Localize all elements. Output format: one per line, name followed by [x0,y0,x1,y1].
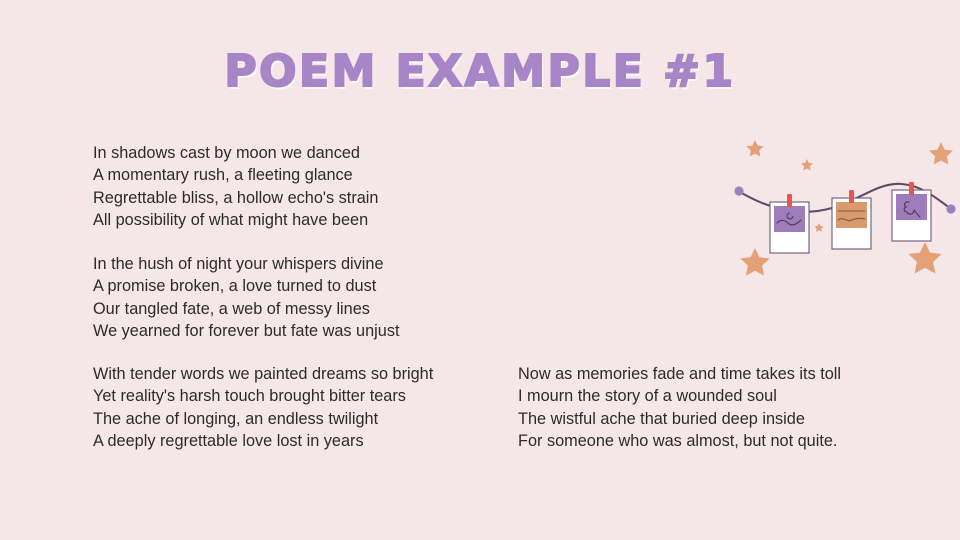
poem-line: In shadows cast by moon we danced [93,142,378,164]
star-lower-right [908,242,941,274]
poem-line: For someone who was almost, but not quit… [518,430,841,452]
star-tiny-center [814,223,823,232]
photo-flower [892,182,931,241]
star-lower-left [740,248,769,276]
poem-line: Now as memories fade and time takes its … [518,363,841,385]
clothespin [909,182,914,195]
poem-line: We yearned for forever but fate was unju… [93,320,400,342]
poem-line: The wistful ache that buried deep inside [518,408,841,430]
poem-stanza-1: In shadows cast by moon we danced A mome… [93,142,378,231]
poem-line: Our tangled fate, a web of messy lines [93,298,400,320]
poem-line: With tender words we painted dreams so b… [93,363,433,385]
star-upper-right [929,142,953,165]
photo-sunset [832,190,871,249]
poem-line: A promise broken, a love turned to dust [93,275,400,297]
poem-line: In the hush of night your whispers divin… [93,253,400,275]
photo-landscape [770,194,809,253]
clothespin [849,190,854,203]
poem-stanza-2: In the hush of night your whispers divin… [93,253,400,342]
slide-canvas: POEM EXAMPLE #1 In shadows cast by moon … [0,0,960,540]
poem-line: The ache of longing, an endless twilight [93,408,433,430]
star-small-upper-left [746,140,763,157]
poem-line: Yet reality's harsh touch brought bitter… [93,385,433,407]
poem-line: All possibility of what might have been [93,209,378,231]
string-endpoint-right [946,204,955,213]
poem-line: I mourn the story of a wounded soul [518,385,841,407]
poem-line: Regrettable bliss, a hollow echo's strai… [93,187,378,209]
poem-line: A deeply regrettable love lost in years [93,430,433,452]
poem-line: A momentary rush, a fleeting glance [93,164,378,186]
star-tiny-upper-mid [801,159,813,171]
clothespin [787,194,792,207]
string-endpoint-left [734,186,743,195]
poem-stanza-3: With tender words we painted dreams so b… [93,363,433,452]
hanging-photos-illustration [726,126,960,284]
poem-stanza-4: Now as memories fade and time takes its … [518,363,841,452]
